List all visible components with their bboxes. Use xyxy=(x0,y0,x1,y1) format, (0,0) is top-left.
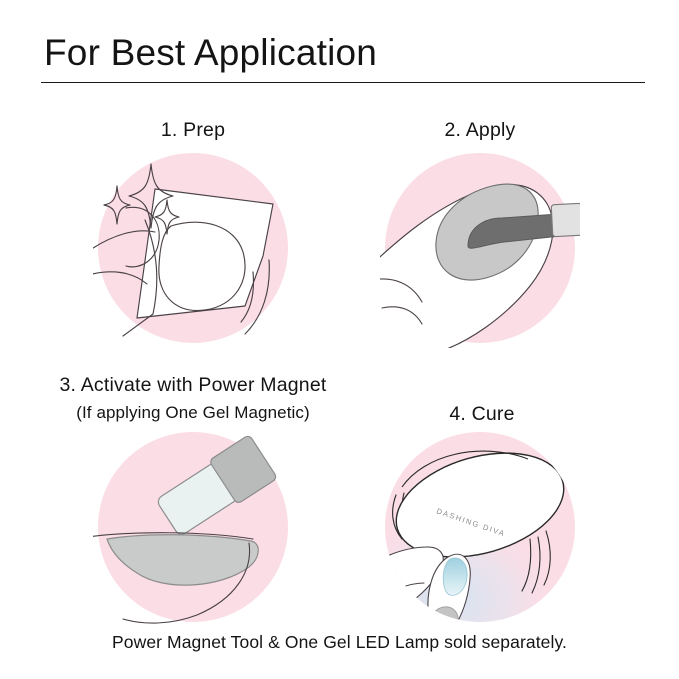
step-3-sublabel: (If applying One Gel Magnetic) xyxy=(28,403,358,423)
step-4-illustration: DASHING DIVA xyxy=(380,427,580,627)
page-title: For Best Application xyxy=(44,30,377,76)
secondary-nail xyxy=(433,607,458,627)
footer-note: Power Magnet Tool & One Gel LED Lamp sol… xyxy=(0,632,679,653)
infographic-page: For Best Application 1. Prep 2. Apply 3.… xyxy=(0,0,679,679)
step-3-illustration xyxy=(93,427,293,627)
step-1-illustration xyxy=(93,148,293,348)
cure-illustration-svg: DASHING DIVA xyxy=(380,427,580,627)
step-1-label: 1. Prep xyxy=(93,119,293,142)
step-2-illustration xyxy=(380,148,580,348)
activate-illustration-svg xyxy=(93,427,293,627)
step-4-label: 4. Cure xyxy=(382,403,582,426)
apply-illustration-svg xyxy=(380,148,580,348)
step-3-label: 3. Activate with Power Magnet xyxy=(28,374,358,397)
title-divider xyxy=(41,82,645,83)
step-2-label: 2. Apply xyxy=(380,119,580,142)
prep-illustration-svg xyxy=(93,148,293,348)
applicator-handle xyxy=(551,203,580,237)
